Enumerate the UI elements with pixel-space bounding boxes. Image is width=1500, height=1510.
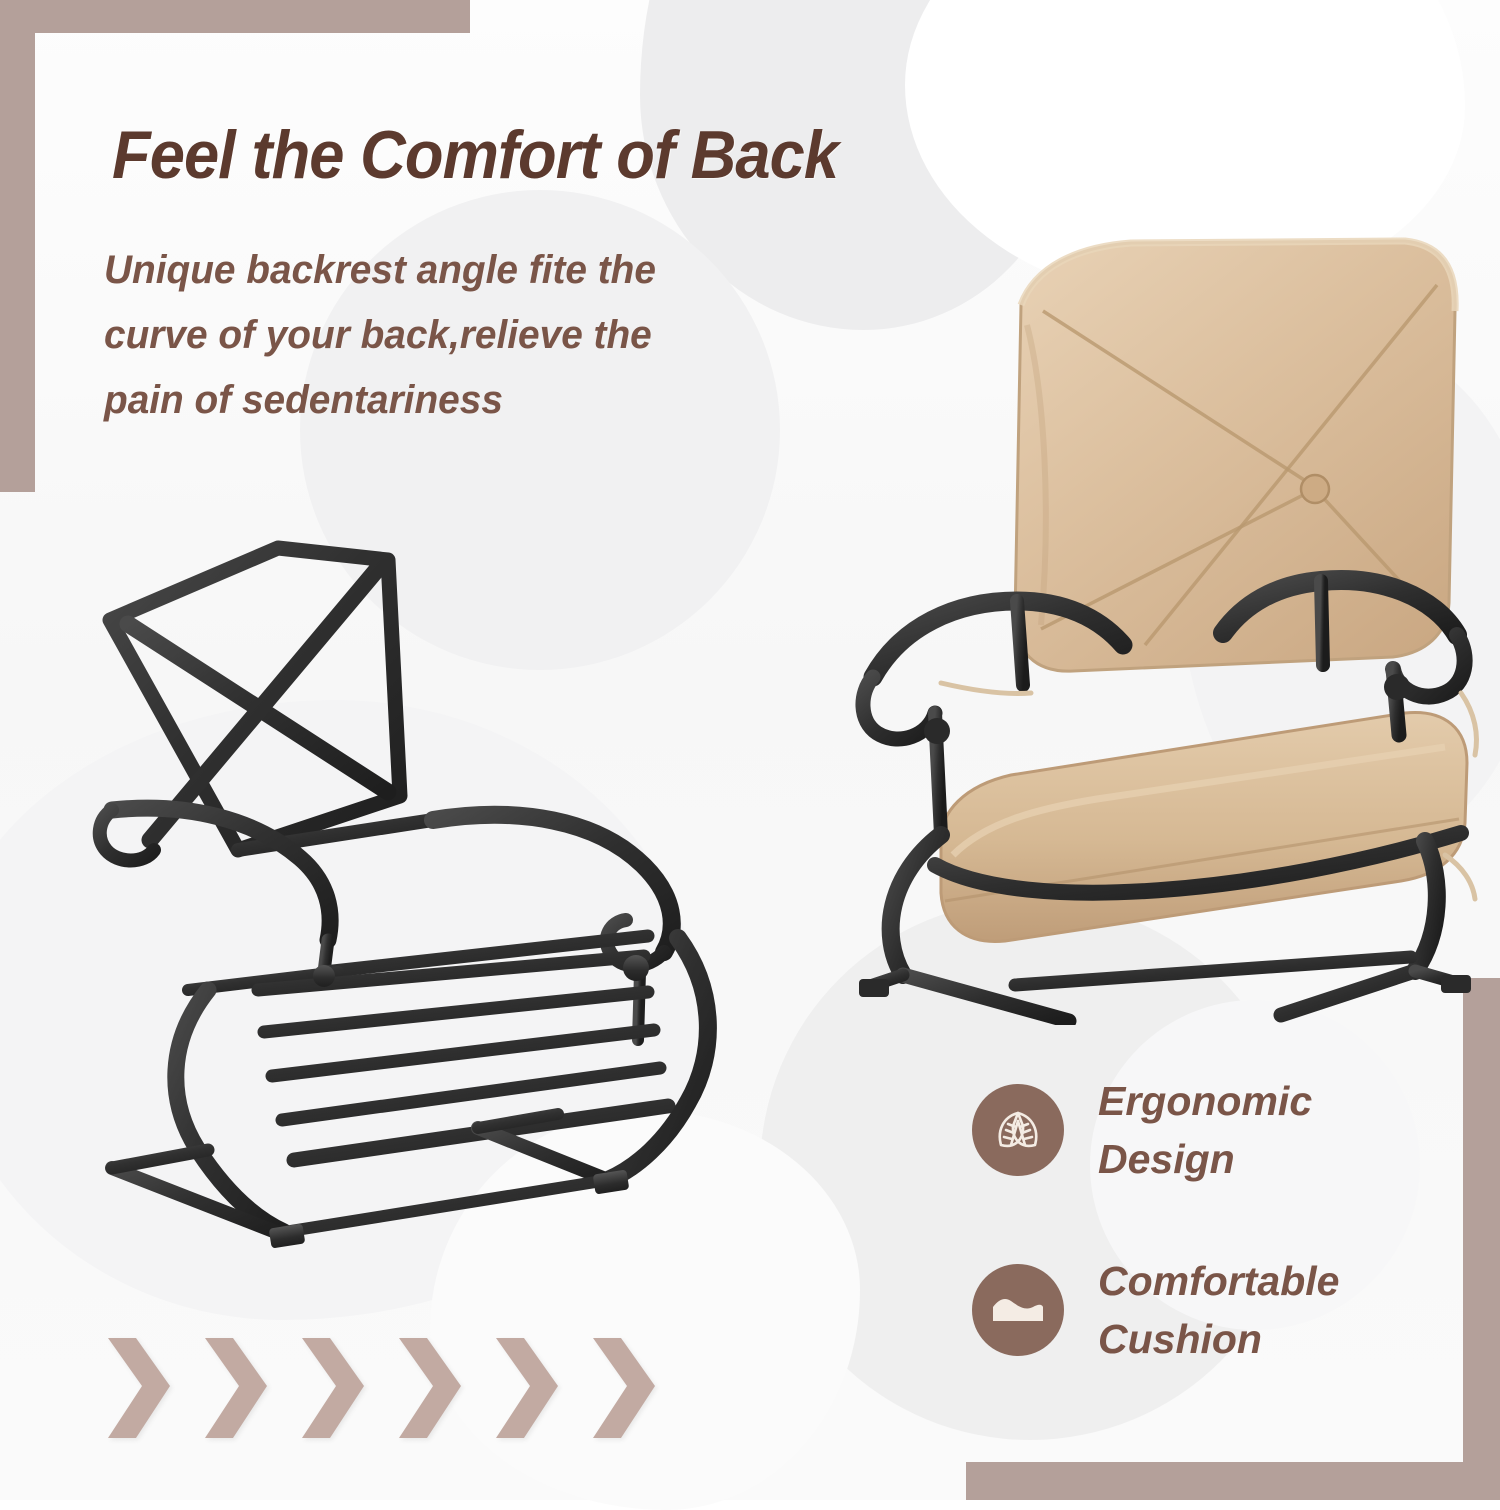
bare-metal-chair-frame [88,520,728,1260]
headline: Feel the Comfort of Back [112,116,838,194]
corner-frame-top-left-horizontal [0,0,470,33]
subcopy-line: curve of your back,relieve the [104,303,841,368]
feature-ergonomic-design: Ergonomic Design [972,1072,1312,1188]
chevron-right-icon [197,1336,275,1440]
feature-label-line: Ergonomic [1098,1072,1312,1130]
corner-frame-top-left-vertical [0,0,35,492]
badge-circle [972,1264,1064,1356]
banner-canvas: Feel the Comfort of Back Unique backrest… [0,0,1500,1500]
badge-circle [972,1084,1064,1176]
feature-comfortable-cushion: Comfortable Cushion [972,1252,1339,1368]
cushion-icon [985,1277,1051,1343]
feature-label-line: Cushion [1098,1310,1339,1368]
subcopy-line: pain of sedentariness [104,368,841,433]
chevron-right-icon [294,1336,372,1440]
subcopy: Unique backrest angle fite the curve of … [104,238,841,432]
subcopy-line: Unique backrest angle fite the [104,238,841,303]
seat-cushion [941,712,1467,941]
corner-frame-bottom-right-vertical [1463,978,1500,1468]
feature-label-line: Design [1098,1130,1312,1188]
feature-label: Comfortable Cushion [1098,1252,1339,1368]
feature-label-line: Comfortable [1098,1252,1339,1310]
chevron-right-icon [585,1336,663,1440]
chevron-right-icon [488,1336,566,1440]
corner-frame-bottom-right-horizontal [966,1462,1500,1500]
chevron-right-icon [100,1336,178,1440]
chevron-row [100,1336,663,1440]
chevron-right-icon [391,1336,469,1440]
cushioned-chair [845,215,1485,1025]
feature-label: Ergonomic Design [1098,1072,1312,1188]
leaf-icon [987,1099,1049,1161]
